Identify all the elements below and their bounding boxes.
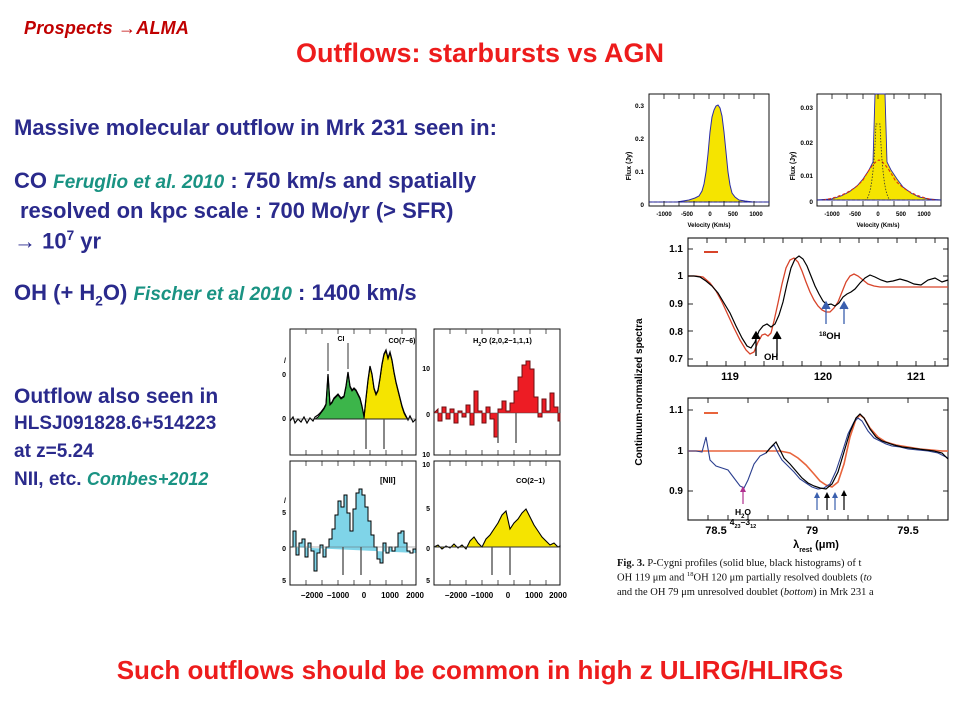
oh-pcygni-svg: Continuum-normalized spectra 1.1 1 0.9 0…	[630, 232, 960, 552]
body-heading: Massive molecular outflow in Mrk 231 see…	[14, 115, 497, 141]
co-profiles-svg: Flux (Jy) 0.3 0.2 0.1 0	[617, 84, 957, 232]
source-redshift: at z=5.24	[14, 441, 94, 463]
panelC-ytick-5: 5	[282, 510, 286, 517]
panelC-ytick-hi: /	[284, 498, 286, 505]
co-total-xtick-500: 500	[728, 212, 739, 218]
caption-line-3-post: ) in Mrk 231 a	[813, 587, 874, 598]
panelC-xtick-1000: 1000	[381, 591, 399, 600]
oh-79-panel: 1.1 1 0.9	[669, 398, 948, 552]
panelB-ytick-0: 0	[426, 412, 430, 419]
co-value: : 750 km/s and spatially	[230, 168, 476, 193]
panelC-xtick-m2000: −2000	[301, 591, 324, 600]
panelD-xtick-m1000: −1000	[471, 591, 494, 600]
figure-co-profiles: Flux (Jy) 0.3 0.2 0.1 0	[617, 84, 957, 232]
oh119-ytick-07: 0.7	[669, 354, 683, 365]
co-wings-ytick-002: 0.02	[800, 140, 813, 147]
co-line-3: → 107 yr	[14, 228, 101, 254]
co-label: CO	[14, 168, 47, 193]
caption-line-2-prefix: OH 119	[617, 573, 653, 584]
slide-root: Prospects →ALMA Outflows: starbursts vs …	[0, 0, 960, 720]
timescale-prefix: → 10	[14, 228, 67, 253]
co-wings-xtick-m1000: -1000	[824, 212, 840, 218]
panelC-ytick-0: 0	[282, 546, 286, 553]
panelA-ytick-0: 0	[282, 416, 286, 423]
co-line-1: CO Feruglio et al. 2010 : 750 km/s and s…	[14, 168, 476, 194]
slide-kicker: Prospects →ALMA	[24, 18, 189, 39]
oh119-xtick-119: 119	[721, 371, 739, 383]
co-wings-xlabel: Velocity (Km/s)	[856, 223, 899, 229]
panelD-xtick-m2000: −2000	[445, 591, 468, 600]
panelA-label-co76: CO(7−6)	[388, 338, 415, 345]
panelD-xtick-2000: 2000	[549, 591, 567, 600]
oh119-ytick-11: 1.1	[669, 244, 683, 255]
co-wings-xtick-m500: -500	[849, 212, 862, 218]
slide-title: Outflows: starbursts vs AGN	[0, 38, 960, 69]
co-total-ytick-01: 0.1	[635, 169, 644, 176]
figure-hlsj-lines: / 0 0 CI CO(7−6)	[268, 325, 580, 610]
panelA-ytick-hi: /	[284, 358, 286, 365]
panelB-ytick-m10: 10	[422, 452, 430, 459]
caption-line-3-italic: bottom	[784, 587, 813, 598]
oh119-ytick-09: 0.9	[669, 299, 683, 310]
lines-citation: Combes+2012	[87, 469, 209, 489]
caption-line-2-mu: μm and	[653, 573, 687, 584]
oh79-xtick-795: 79.5	[897, 525, 918, 537]
oh79-ytick-1: 1	[677, 446, 683, 457]
panelA-label-ci: CI	[338, 336, 345, 343]
oh79-xtick-785: 78.5	[705, 525, 726, 537]
oh-label-subscript: 2	[95, 293, 103, 308]
oh-value: : 1400 km/s	[298, 280, 417, 305]
hlsj-lines-svg: / 0 0 CI CO(7−6)	[268, 325, 580, 610]
panelC-xtick-2000: 2000	[406, 591, 424, 600]
panelC-ytick-m5: 5	[282, 578, 286, 585]
caption-figure-label: Fig. 3.	[617, 558, 645, 569]
co-citation: Feruglio et al. 2010	[53, 172, 224, 193]
co-total-xlabel: Velocity (Km/s)	[687, 223, 730, 229]
co-total-xtick-0: 0	[708, 212, 712, 218]
oh-119-panel: 1.1 1 0.9 0.8 0.7	[669, 238, 948, 383]
caption-line-2-italic: to	[864, 573, 872, 584]
co-line-2: resolved on kpc scale : 700 Mo/yr (> SFR…	[20, 198, 453, 224]
panelD-ytick-0: 0	[426, 546, 430, 553]
co-total-ytick-03: 0.3	[635, 103, 644, 110]
lines-label: NII, etc.	[14, 469, 82, 490]
oh79-ytick-09: 0.9	[669, 486, 683, 497]
co-wings-xtick-1000: 1000	[917, 212, 931, 218]
oh-line: OH (+ H2O) Fischer et al 2010 : 1400 km/…	[14, 280, 417, 308]
co-total-ytick-0: 0	[640, 202, 644, 209]
hlsj-h2o-panel: 10 0 10 H2O (2,0,2−1,1,1)	[422, 329, 560, 459]
oh119-label-oh: OH	[764, 352, 778, 363]
co-total-ytick-02: 0.2	[635, 136, 644, 143]
caption-line-2-post: OH 120 μm partially resolved doublets (	[694, 573, 864, 584]
co-wings-ytick-0: 0	[809, 199, 813, 206]
co-total-xtick-1000: 1000	[749, 212, 763, 218]
oh-citation: Fischer et al 2010	[133, 284, 291, 305]
hlsj-co21-panel: 10 5 0 5 CO(2−1)	[422, 461, 567, 600]
source-lines: NII, etc. Combes+2012	[14, 469, 208, 491]
co-total-xtick-m1000: -1000	[656, 212, 672, 218]
oh119-xtick-120: 120	[814, 371, 832, 383]
panelD-ytick-10: 10	[422, 462, 430, 469]
panelD-xtick-1000: 1000	[525, 591, 543, 600]
panelC-label-nii: [NII]	[380, 476, 396, 485]
panelA-ytick-5: 0	[282, 372, 286, 379]
caption-line-3-prefix: and the OH 79 μm unresolved doublet (	[617, 587, 784, 598]
oh-ylabel-shared: Continuum-normalized spectra	[634, 318, 645, 466]
panelD-label-co21: CO(2−1)	[516, 476, 545, 485]
figure-oh-pcygni: Continuum-normalized spectra 1.1 1 0.9 0…	[630, 232, 960, 552]
panelD-xtick-0: 0	[506, 591, 511, 600]
co-wings-ytick-001: 0.01	[800, 173, 813, 180]
co-wings-xtick-500: 500	[896, 212, 907, 218]
panelC-xtick-m1000: −1000	[327, 591, 350, 600]
figure-caption: Fig. 3. P-Cygni profiles (solid blue, bl…	[617, 557, 960, 600]
panelB-ytick-10: 10	[422, 366, 430, 373]
caption-line-1: P-Cygni profiles (solid blue, black hist…	[647, 558, 861, 569]
outflow-heading: Outflow also seen in	[14, 385, 218, 409]
source-name: HLSJ091828.6+514223	[14, 413, 216, 435]
co-wings-xtick-0: 0	[876, 212, 880, 218]
timescale-suffix: yr	[74, 228, 101, 253]
panelC-xtick-0: 0	[362, 591, 367, 600]
oh79-xtick-79: 79	[806, 525, 818, 537]
hlsj-nii-panel: / 5 0 5 [NII]	[282, 461, 424, 600]
oh-label-suffix: O)	[103, 280, 127, 305]
panelD-ytick-5: 5	[426, 506, 430, 513]
co-broad-wings-panel: Flux (Jy) 0.03 0.02 0.01 0	[790, 94, 941, 229]
oh-label-prefix: OH (+ H	[14, 280, 95, 305]
hlsj-ci-co76-panel: / 0 0 CI CO(7−6)	[282, 329, 416, 455]
oh79-xlabel: λrest (μm)	[793, 539, 839, 552]
oh119-ytick-1: 1	[677, 271, 683, 282]
panelD-ytick-m5: 5	[426, 578, 430, 585]
co-total-ylabel: Flux (Jy)	[626, 152, 633, 181]
co-wings-ylabel: Flux (Jy)	[790, 152, 797, 181]
co-wings-ytick-003: 0.03	[800, 105, 813, 112]
oh79-ytick-11: 1.1	[669, 405, 683, 416]
oh119-xtick-121: 121	[907, 371, 925, 383]
slide-footer: Such outflows should be common in high z…	[0, 655, 960, 686]
co-total-profile-panel: Flux (Jy) 0.3 0.2 0.1 0	[626, 94, 769, 229]
oh119-ytick-08: 0.8	[669, 327, 683, 338]
co-total-xtick-m500: -500	[681, 212, 694, 218]
